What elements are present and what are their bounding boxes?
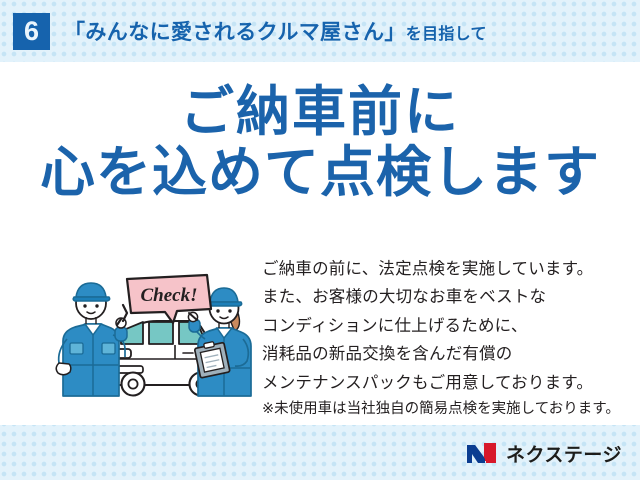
mechanics-illustration: Check!	[55, 267, 260, 402]
page-title: ご納車前に 心を込めて点検します	[0, 82, 640, 204]
body-line: 消耗品の新品交換を含んだ有償の	[262, 340, 634, 368]
body-line: メンテナンスパックもご用意しております。	[262, 369, 634, 397]
headline-line-1: ご納車前に	[0, 82, 640, 142]
content-panel: ご納車前に 心を込めて点検します	[0, 62, 640, 425]
step-number-badge: 6	[13, 13, 50, 50]
headline-line-2: 心を込めて点検します	[0, 142, 640, 204]
header: 6 「みんなに愛されるクルマ屋さん」 を目指して	[0, 0, 640, 62]
body-line: ご納車の前に、法定点検を実施しています。	[262, 255, 634, 283]
check-speech-bubble: Check!	[127, 275, 211, 323]
header-title-tail: を目指して	[406, 20, 487, 44]
mechanic-male	[56, 283, 127, 396]
nextage-n-mark	[465, 441, 499, 465]
header-title-quote: 「みんなに愛されるクルマ屋さん」	[64, 16, 406, 46]
body-note: ※未使用車は当社独自の簡易点検を実施しております。	[262, 397, 634, 422]
header-title: 「みんなに愛されるクルマ屋さん」 を目指して	[64, 16, 487, 46]
body-line: また、お客様の大切なお車をベストな	[262, 283, 634, 311]
check-bubble-text: Check!	[141, 285, 198, 306]
body-copy: ご納車の前に、法定点検を実施しています。 また、お客様の大切なお車をベストな コ…	[262, 255, 634, 422]
brand-logo: ネクステージ	[465, 438, 622, 468]
advertisement-root: 6 「みんなに愛されるクルマ屋さん」 を目指して ご納車前に 心を込めて点検しま…	[0, 0, 640, 480]
brand-name: ネクステージ	[506, 440, 622, 467]
body-line: コンディションに仕上げるために、	[262, 312, 634, 340]
